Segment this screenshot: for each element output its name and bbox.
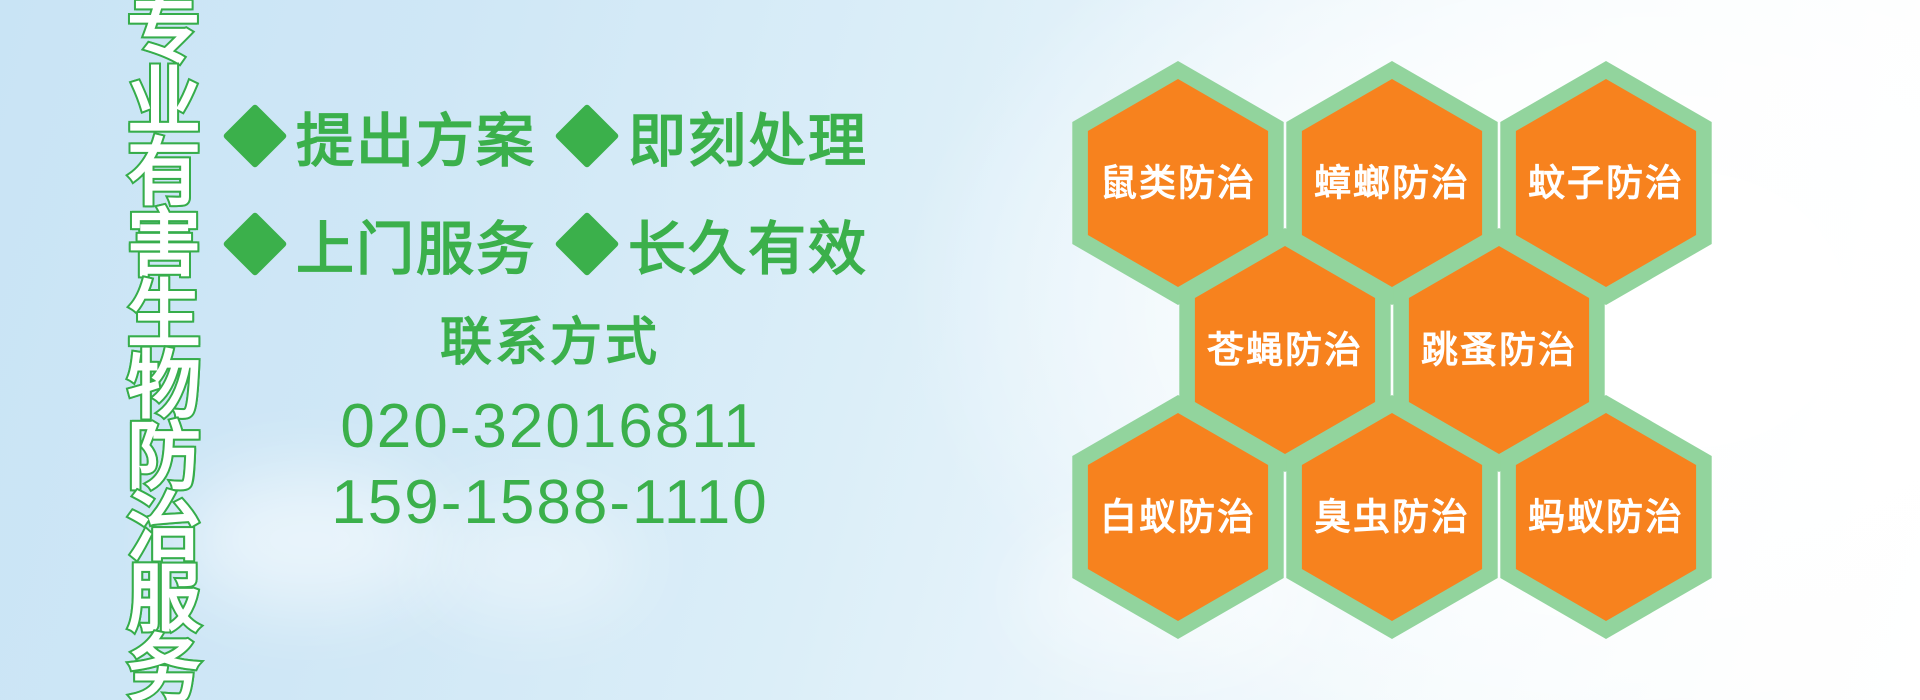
hexagon-label: 蟑螂防治	[1314, 163, 1470, 204]
feature-row: 提出方案即刻处理	[232, 82, 872, 190]
vertical-headline-char: 业	[127, 65, 201, 139]
vertical-headline-char: 治	[127, 491, 201, 565]
feature-item: 提出方案	[232, 94, 536, 178]
feature-label: 提出方案	[296, 94, 536, 178]
vertical-headline-char: 务	[127, 633, 201, 700]
feature-item: 即刻处理	[564, 94, 868, 178]
feature-list: 提出方案即刻处理上门服务长久有效	[232, 82, 872, 298]
hexagon-label: 蚊子防治	[1528, 163, 1684, 204]
hexagon-label: 臭虫防治	[1314, 497, 1470, 538]
contact-title: 联系方式	[230, 300, 870, 375]
vertical-headline-char: 生	[127, 278, 201, 352]
contact-phone[interactable]: 159-1588-1110	[230, 465, 870, 541]
hexagon-label: 苍蝇防治	[1207, 330, 1363, 371]
hexagon-label: 跳蚤防治	[1421, 330, 1577, 371]
feature-item: 长久有效	[564, 202, 868, 286]
feature-row: 上门服务长久有效	[232, 190, 872, 298]
hexagon-label: 蚂蚁防治	[1528, 497, 1684, 538]
vertical-headline-char: 专	[127, 0, 201, 68]
diamond-bullet-icon	[222, 103, 287, 168]
contact-block: 联系方式 020-32016811159-1588-1110	[230, 300, 870, 540]
promo-banner: 专业有害生物防治服务 提出方案即刻处理上门服务长久有效 联系方式 020-320…	[0, 0, 1920, 700]
diamond-bullet-icon	[222, 211, 287, 276]
vertical-headline-char: 物	[127, 349, 201, 423]
vertical-headline-char: 有	[127, 136, 201, 210]
feature-label: 长久有效	[628, 202, 868, 286]
diamond-bullet-icon	[554, 103, 619, 168]
contact-phone[interactable]: 020-32016811	[230, 389, 870, 465]
hexagon-label: 白蚁防治	[1100, 497, 1256, 538]
feature-item: 上门服务	[232, 202, 536, 286]
feature-label: 即刻处理	[628, 94, 868, 178]
hexagon-label: 鼠类防治	[1100, 163, 1256, 204]
vertical-headline: 专业有害生物防治服务	[108, 0, 220, 594]
diamond-bullet-icon	[554, 211, 619, 276]
vertical-headline-char: 服	[127, 562, 201, 636]
vertical-headline-char: 防	[127, 420, 201, 494]
vertical-headline-char: 害	[127, 207, 201, 281]
contact-phone-list: 020-32016811159-1588-1110	[230, 389, 870, 540]
feature-label: 上门服务	[296, 202, 536, 286]
